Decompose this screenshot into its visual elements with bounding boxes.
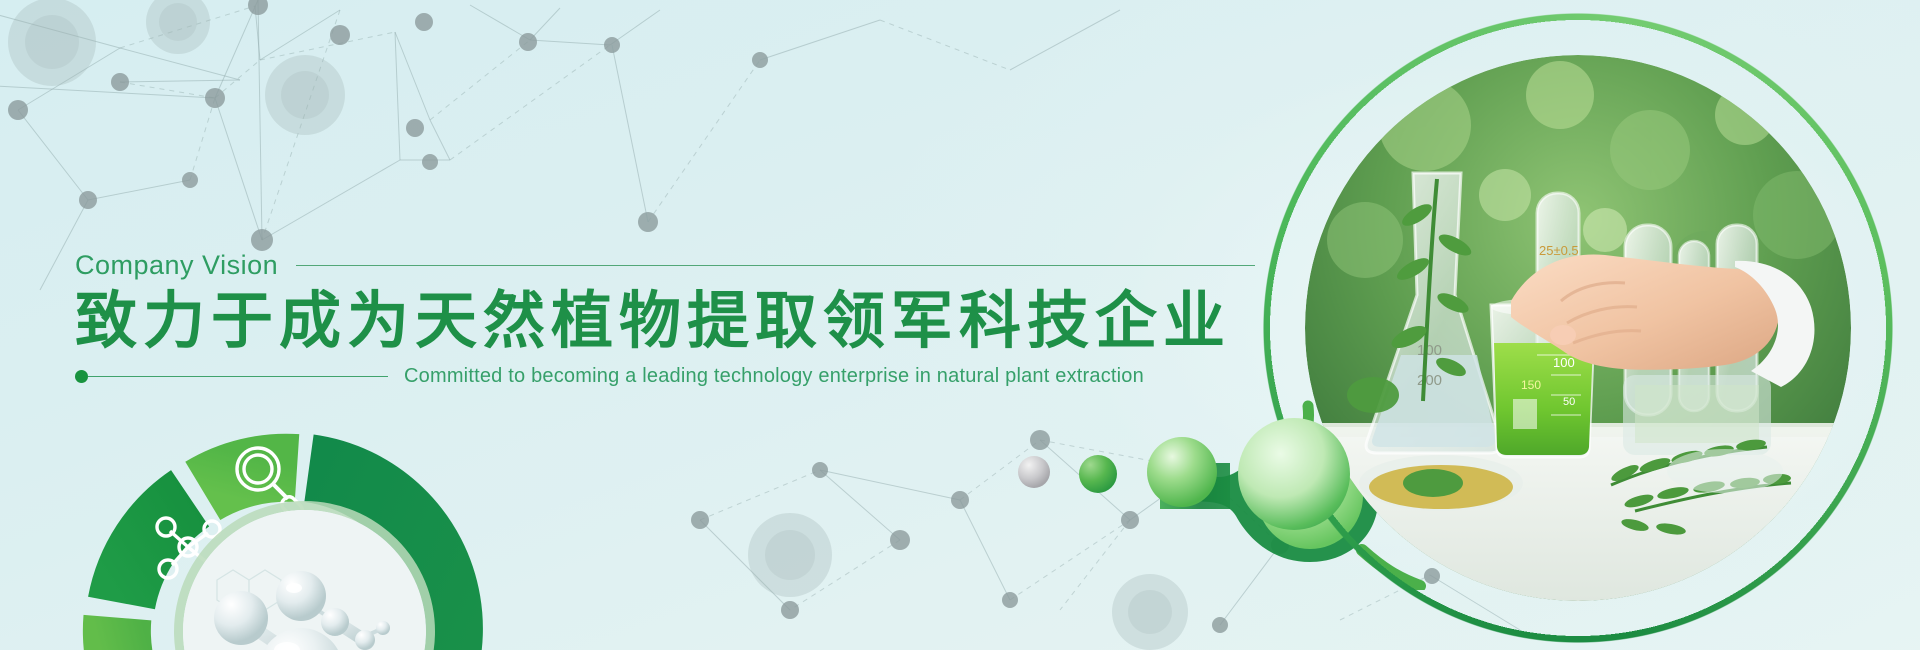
eyebrow-row: Company Vision [75, 250, 1255, 280]
node-small-gray [1018, 456, 1050, 488]
vision-text-block: Company Vision 致力于成为天然植物提取领军科技企业 Committ… [75, 250, 1255, 388]
page-title: 致力于成为天然植物提取领军科技企业 [75, 286, 1255, 355]
donut-segment-research [117, 618, 141, 650]
beaker-mark-150: 150 [1521, 378, 1541, 392]
bullet-dot-icon [75, 370, 88, 383]
node-small-green [1079, 455, 1117, 493]
glass-bowl [1667, 449, 1783, 493]
flask-mark-100: 100 [1417, 342, 1442, 359]
beaker-mark-50: 50 [1563, 396, 1575, 408]
petri-dish [1359, 455, 1523, 511]
accent-node-icon [1238, 418, 1350, 530]
lab-beaker-photo: 100 200 [1305, 55, 1851, 601]
eyebrow-label: Company Vision [75, 250, 278, 281]
molecule-inner-image [183, 510, 426, 650]
eyebrow-divider [296, 265, 1255, 266]
subtitle-divider [88, 376, 388, 377]
company-vision-banner: .ln{stroke:#8ba4a6;stroke-width:1;fill:n… [0, 0, 1920, 650]
node-mid-green [1147, 437, 1217, 507]
beaker-mark-100: 100 [1553, 355, 1575, 370]
subtitle-row: Committed to becoming a leading technolo… [75, 365, 1255, 388]
lab-photo-frame: 100 200 [1258, 8, 1898, 648]
tube-mark: 25±0.5 [1539, 243, 1579, 258]
flask-mark-200: 200 [1417, 372, 1442, 389]
subtitle-text: Committed to becoming a leading technolo… [404, 365, 1144, 388]
